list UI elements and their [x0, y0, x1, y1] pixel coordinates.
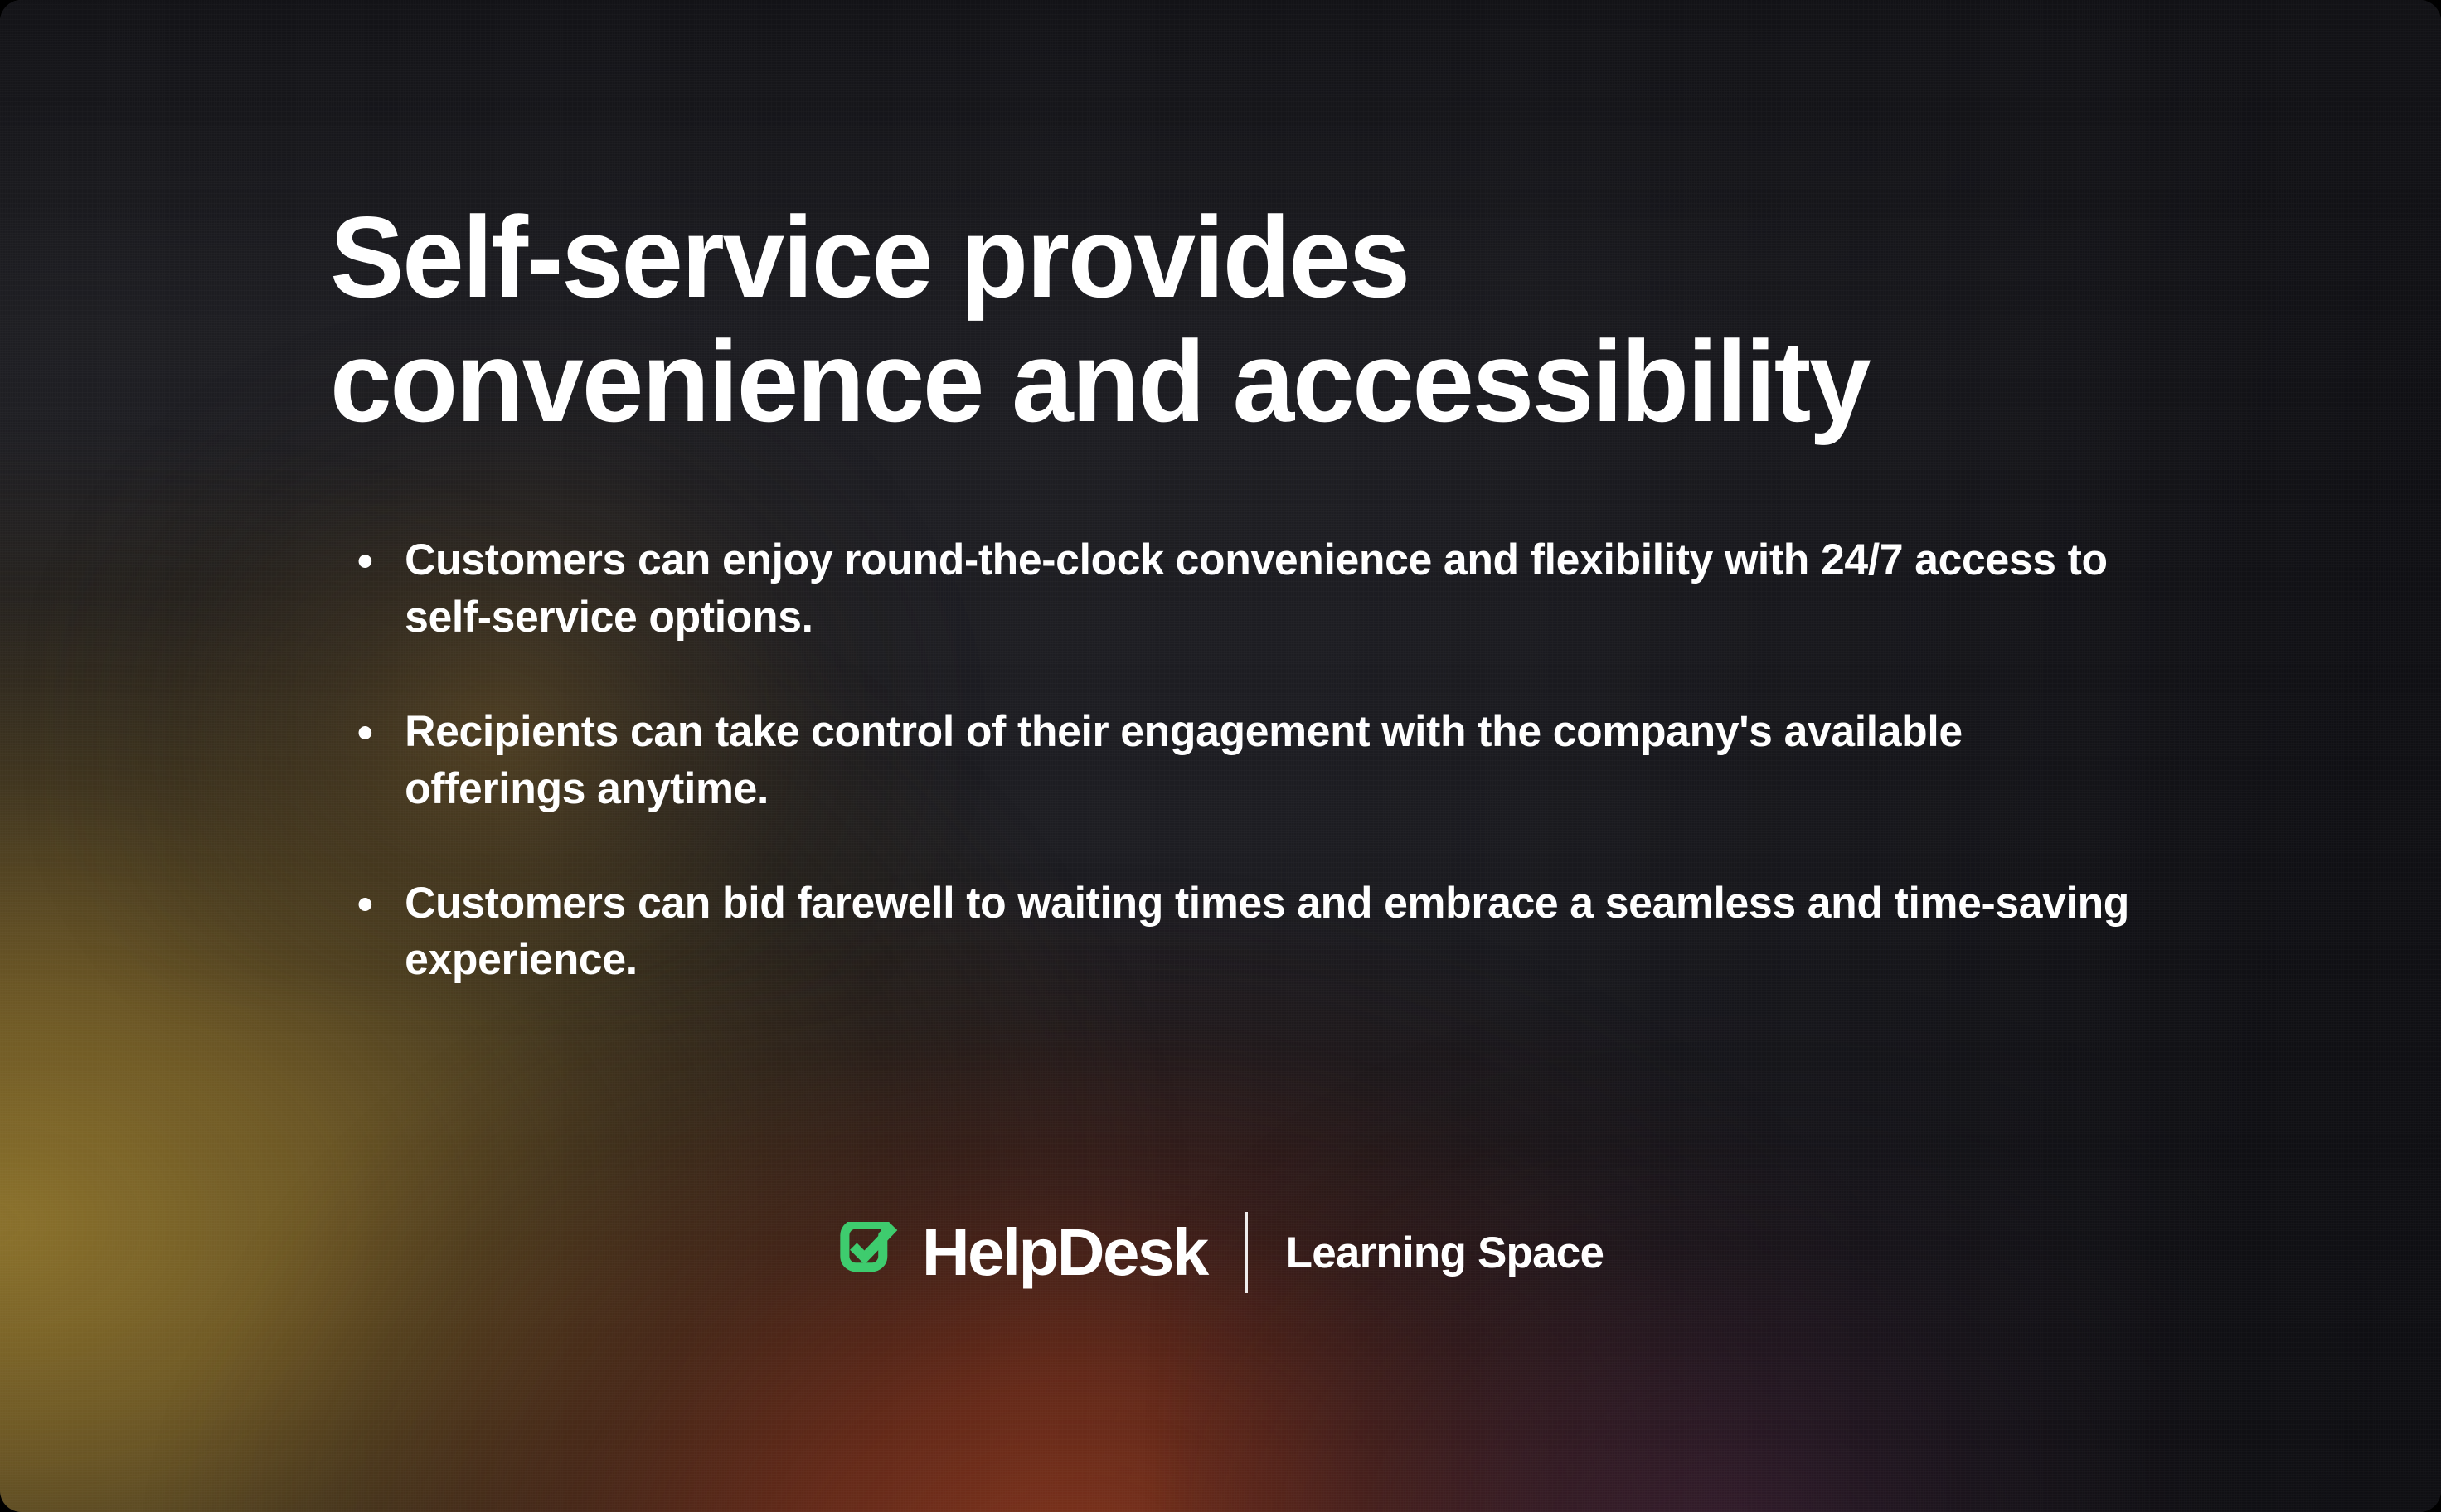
bullet-item-text: Recipients can take control of their eng… — [405, 704, 2138, 818]
slide-canvas: Self-service provides convenience and ac… — [0, 0, 2441, 1512]
learning-space-label: Learning Space — [1286, 1231, 1604, 1275]
bullet-list: Customers can enjoy round-the-clock conv… — [343, 532, 2184, 989]
checkmark-square-icon — [837, 1222, 899, 1283]
footer-divider — [1245, 1212, 1248, 1293]
slide-content: Self-service provides convenience and ac… — [0, 0, 2441, 1512]
footer-lockup: HelpDesk Learning Space — [0, 1212, 2441, 1293]
slide-title: Self-service provides convenience and ac… — [330, 196, 2026, 444]
bullet-item-text: Customers can bid farewell to waiting ti… — [405, 875, 2138, 990]
bullet-item: Customers can enjoy round-the-clock conv… — [343, 532, 2138, 647]
bullet-dot-icon — [359, 726, 372, 739]
bullet-item: Customers can bid farewell to waiting ti… — [343, 875, 2138, 990]
bullet-item-text: Customers can enjoy round-the-clock conv… — [405, 532, 2138, 647]
bullet-dot-icon — [359, 555, 372, 568]
bullet-dot-icon — [359, 898, 372, 911]
helpdesk-wordmark: HelpDesk — [922, 1219, 1207, 1286]
bullet-item: Recipients can take control of their eng… — [343, 704, 2138, 818]
helpdesk-brand: HelpDesk — [837, 1219, 1207, 1286]
